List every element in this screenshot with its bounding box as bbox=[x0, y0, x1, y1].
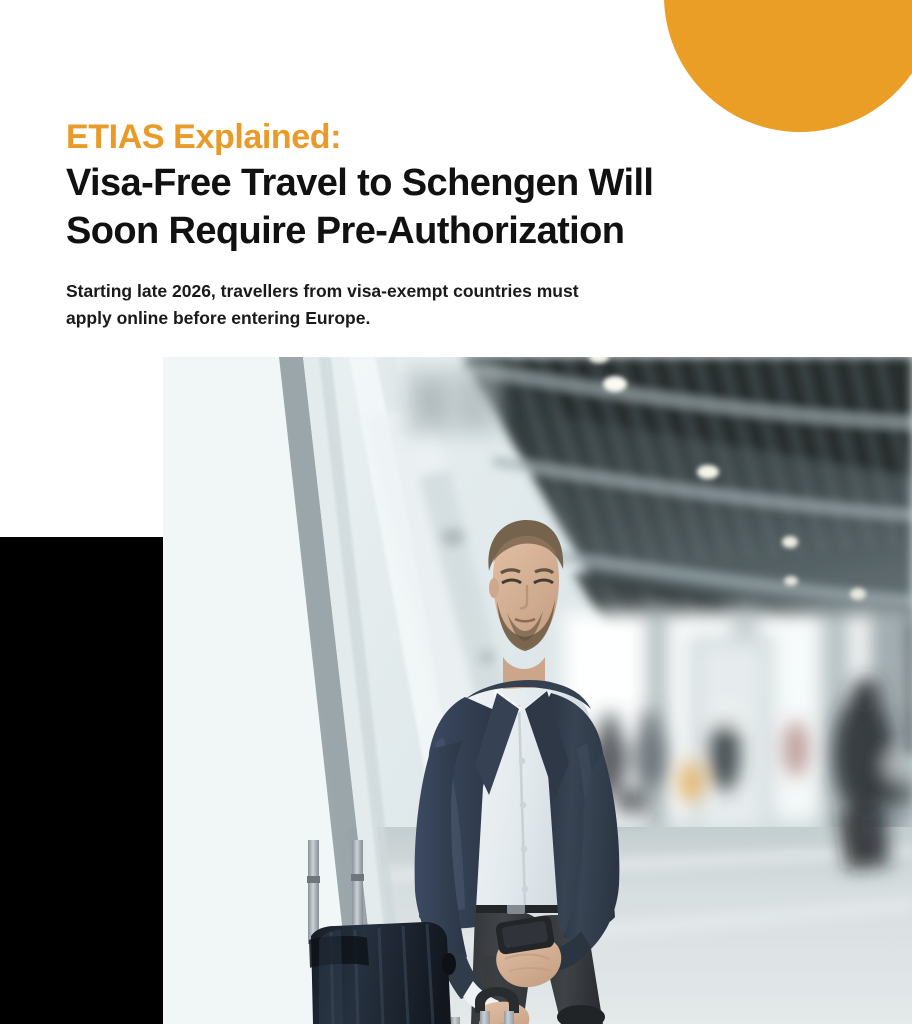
orange-circle-decoration bbox=[664, 0, 912, 132]
subtitle: Starting late 2026, travellers from visa… bbox=[66, 278, 756, 331]
headline-group: ETIAS Explained: Visa-Free Travel to Sch… bbox=[66, 118, 766, 331]
black-block-decoration bbox=[0, 537, 163, 1024]
subtitle-line-1: Starting late 2026, travellers from visa… bbox=[66, 281, 579, 301]
headline-line-2: Soon Require Pre-Authorization bbox=[66, 210, 624, 252]
poster-canvas: ETIAS Explained: Visa-Free Travel to Sch… bbox=[0, 0, 912, 1024]
page-title: Visa-Free Travel to Schengen Will Soon R… bbox=[66, 160, 766, 256]
subtitle-line-2: apply online before entering Europe. bbox=[66, 305, 756, 332]
suitcase-foreground bbox=[163, 840, 503, 1024]
eyebrow-label: ETIAS Explained: bbox=[66, 118, 766, 157]
headline-line-1: Visa-Free Travel to Schengen Will bbox=[66, 162, 653, 204]
